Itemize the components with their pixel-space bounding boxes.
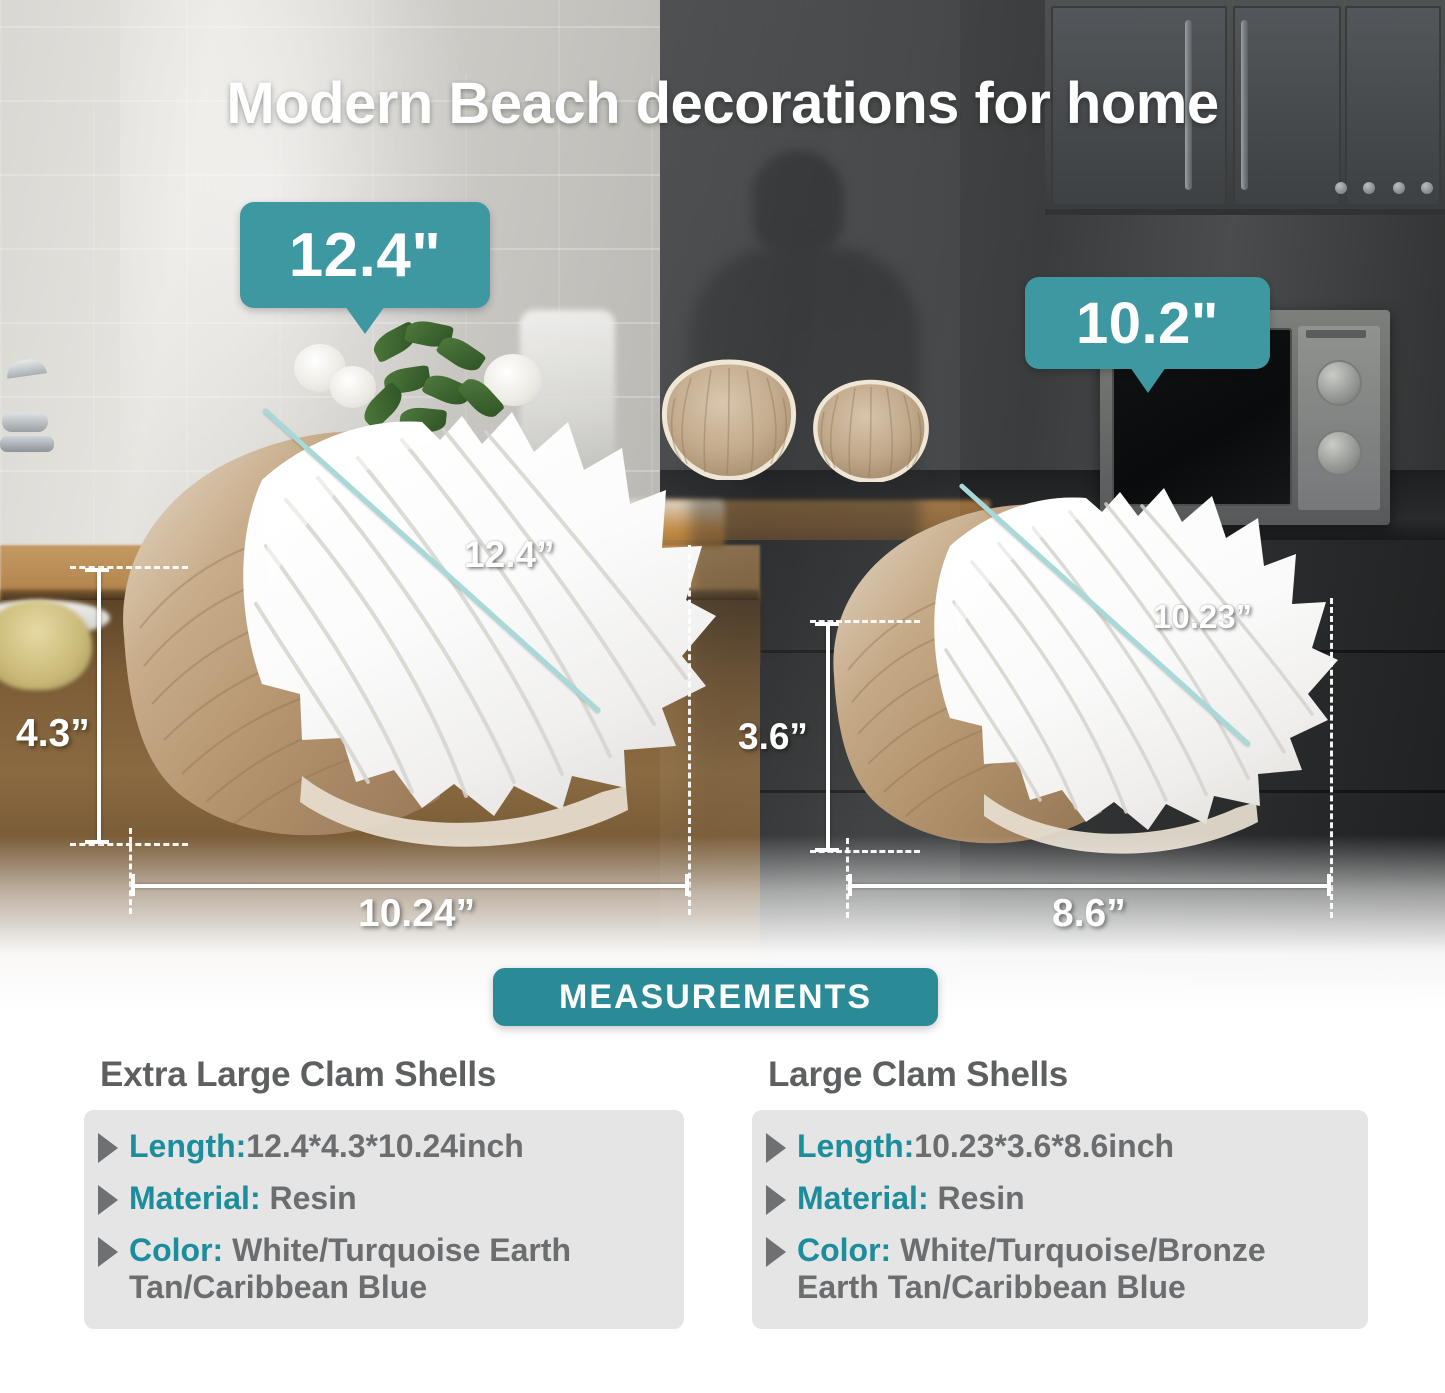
- bullet-triangle-icon: [98, 1133, 118, 1163]
- spec-length-l-value: 10.23*3.6*8.6inch: [914, 1128, 1174, 1164]
- bullet-triangle-icon: [766, 1185, 786, 1215]
- spec-length-l-label: Length:: [797, 1128, 914, 1164]
- clam-shell-l-graphic: [822, 460, 1342, 880]
- faucet-spout: [5, 357, 47, 378]
- spec-color-l-label: Color:: [797, 1232, 891, 1268]
- callout-large-height: 10.2": [1025, 277, 1270, 369]
- l-width-extension-right: [1330, 598, 1333, 918]
- spec-row-material-l: Material: Resin: [766, 1180, 1350, 1218]
- xl-width-extension-left: [129, 828, 132, 914]
- spec-box-extra-large: Length:12.4*4.3*10.24inch Material: Resi…: [84, 1110, 684, 1329]
- spec-color-xl-label: Color:: [129, 1232, 223, 1268]
- xl-width-label: 10.24”: [358, 892, 475, 936]
- l-width-line: [848, 884, 1331, 888]
- large-clam-shell-bowl: [822, 460, 1342, 880]
- xl-diagonal-label: 12.4”: [464, 534, 555, 576]
- microwave-dial-top: [1316, 360, 1362, 406]
- xl-width-cap-right: [685, 874, 689, 896]
- xl-height-cap-bottom: [85, 840, 109, 844]
- bullet-triangle-icon: [766, 1237, 786, 1267]
- callout-extra-large-value: 12.4": [289, 220, 442, 291]
- spec-material-xl-label: Material:: [129, 1180, 261, 1216]
- spec-length-l: Length:10.23*3.6*8.6inch: [797, 1128, 1174, 1166]
- bullet-triangle-icon: [98, 1185, 118, 1215]
- cabinet-knob-1: [1335, 182, 1347, 194]
- spec-length-xl-label: Length:: [129, 1128, 246, 1164]
- spec-row-color-xl: Color: White/Turquoise Earth Tan/Caribbe…: [98, 1232, 666, 1308]
- cabinet-knob-2: [1363, 182, 1375, 194]
- callout-extra-large-height: 12.4": [240, 202, 490, 308]
- plant-leaf-3: [435, 331, 487, 377]
- extra-large-clam-shell-bowl: [110, 378, 720, 878]
- spec-panel-large: Large Clam Shells Length:10.23*3.6*8.6in…: [752, 1055, 1368, 1329]
- spec-material-xl: Material: Resin: [129, 1180, 357, 1218]
- mini-shell-left-graphic: [655, 358, 803, 480]
- microwave-brand-mark: [1306, 330, 1366, 338]
- faucet-base: [0, 436, 54, 452]
- spec-row-length-xl: Length:12.4*4.3*10.24inch: [98, 1128, 666, 1166]
- l-width-cap-left: [848, 874, 852, 896]
- lifestyle-photo-scene: [0, 0, 1445, 1010]
- page-title: Modern Beach decorations for home: [0, 70, 1445, 137]
- spec-panel-extra-large: Extra Large Clam Shells Length:12.4*4.3*…: [84, 1055, 684, 1329]
- spec-material-l-value: Resin: [929, 1180, 1025, 1216]
- spec-material-l-label: Material:: [797, 1180, 929, 1216]
- callout-large-value: 10.2": [1076, 290, 1219, 357]
- spec-color-l: Color: White/Turquoise/Bronze Earth Tan/…: [797, 1232, 1350, 1308]
- xl-width-extension-right: [688, 545, 691, 915]
- clam-shell-xl-graphic: [110, 378, 720, 878]
- measurements-section-badge: MEASUREMENTS: [493, 968, 938, 1026]
- l-width-cap-right: [1327, 874, 1331, 896]
- spec-color-xl: Color: White/Turquoise Earth Tan/Caribbe…: [129, 1232, 666, 1308]
- spec-title-extra-large: Extra Large Clam Shells: [84, 1055, 684, 1095]
- kitchen-faucet: [0, 360, 55, 470]
- spec-title-large: Large Clam Shells: [752, 1055, 1368, 1095]
- product-infographic: Modern Beach decorations for home 12.4" …: [0, 0, 1445, 1393]
- l-height-cap-top: [815, 622, 839, 626]
- callout-extra-large-tail: [345, 306, 385, 334]
- spec-material-xl-value: Resin: [261, 1180, 357, 1216]
- xl-width-cap-left: [131, 874, 135, 896]
- l-diagonal-label: 10.23”: [1153, 598, 1252, 636]
- l-height-line: [826, 622, 830, 852]
- spec-box-large: Length:10.23*3.6*8.6inch Material: Resin…: [752, 1110, 1368, 1329]
- spec-length-xl-value: 12.4*4.3*10.24inch: [246, 1128, 524, 1164]
- spec-material-l: Material: Resin: [797, 1180, 1025, 1218]
- mini-shell-left: [655, 358, 803, 480]
- specifications-section: Extra Large Clam Shells Length:12.4*4.3*…: [0, 1055, 1445, 1393]
- callout-large-tail: [1130, 367, 1166, 393]
- l-height-label: 3.6”: [738, 716, 808, 758]
- mini-shell-right: [808, 378, 934, 482]
- spec-length-xl: Length:12.4*4.3*10.24inch: [129, 1128, 524, 1166]
- spec-row-length-l: Length:10.23*3.6*8.6inch: [766, 1128, 1350, 1166]
- l-width-label: 8.6”: [1052, 892, 1126, 936]
- silhouette-head: [752, 150, 844, 258]
- xl-height-label: 4.3”: [16, 712, 90, 756]
- measurements-badge-label: MEASUREMENTS: [559, 978, 872, 1017]
- faucet-body: [2, 412, 48, 432]
- cabinet-knob-4: [1421, 182, 1433, 194]
- spec-row-material-xl: Material: Resin: [98, 1180, 666, 1218]
- xl-width-line: [131, 884, 689, 888]
- xl-height-cap-top: [85, 568, 109, 572]
- bullet-triangle-icon: [766, 1133, 786, 1163]
- xl-height-line: [97, 568, 101, 844]
- l-height-cap-bottom: [815, 848, 839, 852]
- spec-row-color-l: Color: White/Turquoise/Bronze Earth Tan/…: [766, 1232, 1350, 1308]
- mini-shell-right-graphic: [808, 378, 934, 482]
- cabinet-knob-3: [1393, 182, 1405, 194]
- bullet-triangle-icon: [98, 1237, 118, 1267]
